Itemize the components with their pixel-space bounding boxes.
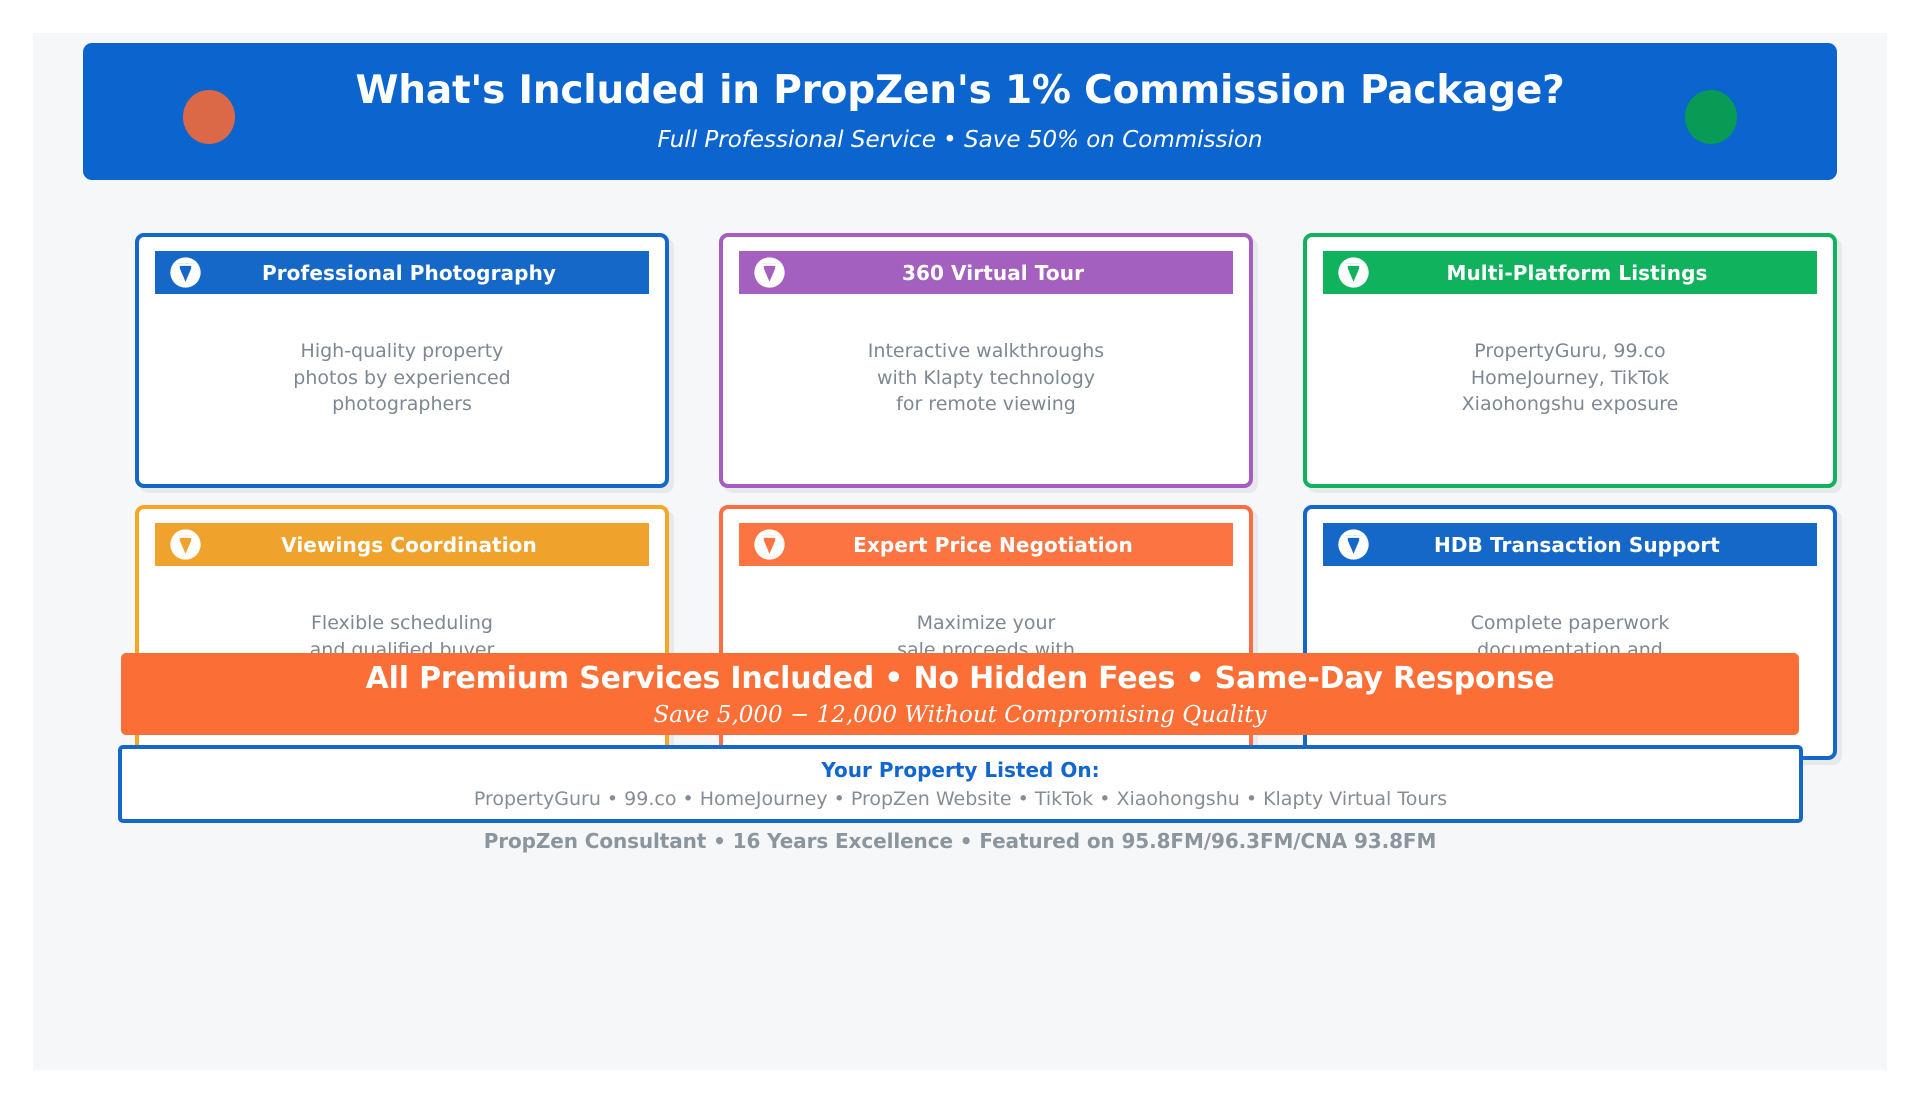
check-badge-icon [753,256,786,289]
service-card-description: Interactive walkthroughs with Klapty tec… [868,338,1104,441]
footer-note: PropZen Consultant • 16 Years Excellence… [33,829,1887,853]
check-badge-icon [169,256,202,289]
check-badge-icon [169,528,202,561]
infographic-canvas: What's Included in PropZen's 1% Commissi… [33,33,1887,1070]
green-circle-icon [1685,90,1737,144]
check-badge-icon [1337,528,1370,561]
promo-headline: All Premium Services Included • No Hidde… [366,661,1555,696]
service-card-description: PropertyGuru, 99.co HomeJourney, TikTok … [1462,338,1679,441]
service-card-title: 360 Virtual Tour [786,261,1233,285]
promo-banner: All Premium Services Included • No Hidde… [121,653,1799,735]
service-card-header: Expert Price Negotiation [739,523,1233,566]
service-card-title: HDB Transaction Support [1370,533,1817,557]
service-card-title: Multi-Platform Listings [1370,261,1817,285]
service-card-body: PropertyGuru, 99.co HomeJourney, TikTok … [1323,294,1817,484]
service-card[interactable]: 360 Virtual TourInteractive walkthroughs… [719,233,1253,488]
promo-subline: Save 5,000 − 12,000 Without Compromising… [653,702,1266,728]
check-badge-icon [753,256,786,289]
service-card-header: HDB Transaction Support [1323,523,1817,566]
service-card-body: Interactive walkthroughs with Klapty tec… [739,294,1233,484]
listed-on-platforms: PropertyGuru • 99.co • HomeJourney • Pro… [474,788,1447,810]
service-card-header: Multi-Platform Listings [1323,251,1817,294]
service-card-header: Viewings Coordination [155,523,649,566]
orange-circle-icon [183,90,235,144]
service-card-header: Professional Photography [155,251,649,294]
check-badge-icon [1337,256,1370,289]
header-banner: What's Included in PropZen's 1% Commissi… [83,43,1837,180]
service-card[interactable]: Professional PhotographyHigh-quality pro… [135,233,669,488]
check-badge-icon [1337,256,1370,289]
check-badge-icon [169,528,202,561]
service-card[interactable]: Multi-Platform ListingsPropertyGuru, 99.… [1303,233,1837,488]
service-card-description: High-quality property photos by experien… [293,338,510,441]
check-badge-icon [753,528,786,561]
service-card-body: High-quality property photos by experien… [155,294,649,484]
check-badge-icon [169,256,202,289]
service-card-title: Viewings Coordination [202,533,649,557]
check-badge-icon [753,528,786,561]
check-badge-icon [1337,528,1370,561]
page-title: What's Included in PropZen's 1% Commissi… [355,70,1564,113]
service-card-title: Expert Price Negotiation [786,533,1233,557]
page-subtitle: Full Professional Service • Save 50% on … [657,127,1262,153]
listed-on-box: Your Property Listed On: PropertyGuru • … [118,745,1803,823]
listed-on-title: Your Property Listed On: [821,758,1099,782]
service-card-header: 360 Virtual Tour [739,251,1233,294]
service-card-title: Professional Photography [202,261,649,285]
